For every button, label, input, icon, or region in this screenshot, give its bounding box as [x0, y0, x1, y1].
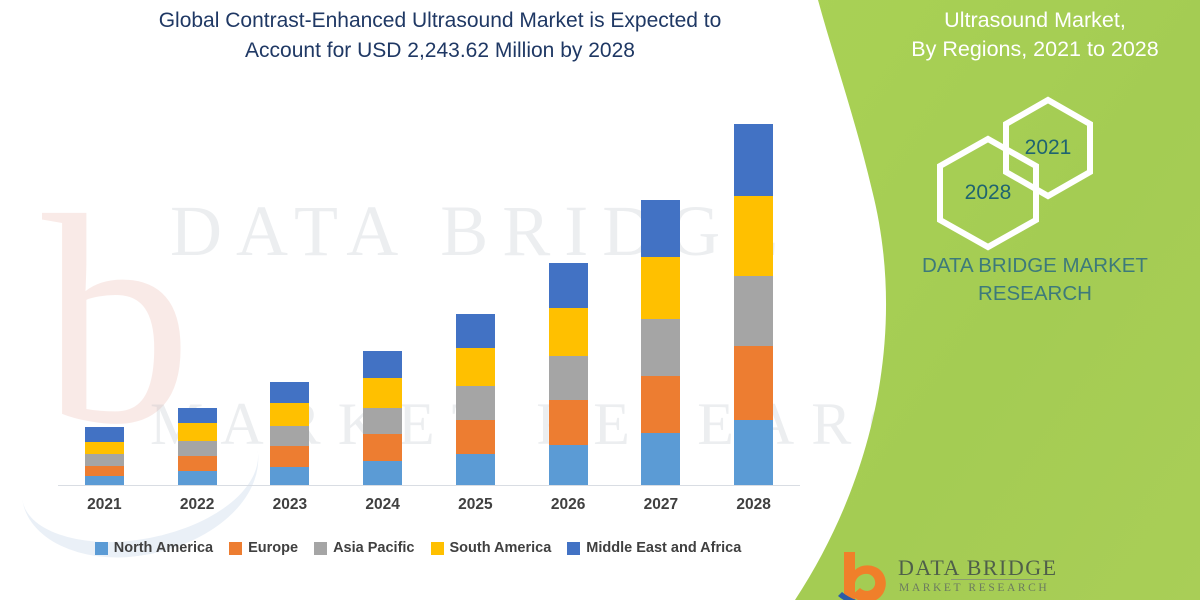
bar-segment[interactable] [363, 461, 402, 485]
bar-segment[interactable] [734, 276, 773, 347]
stacked-bar[interactable] [641, 200, 680, 485]
bar-segment[interactable] [178, 456, 217, 471]
bar-group-2025 [429, 100, 522, 485]
x-axis-label-2027: 2027 [615, 496, 708, 514]
bar-segment[interactable] [270, 382, 309, 403]
x-axis-label-2022: 2022 [151, 496, 244, 514]
bar-group-2024 [336, 100, 429, 485]
stacked-bar[interactable] [85, 427, 124, 485]
bar-segment[interactable] [641, 319, 680, 375]
bar-segment[interactable] [363, 351, 402, 378]
bar-segment[interactable] [363, 378, 402, 408]
hexagon-badge-2021: 2021 [1000, 96, 1096, 200]
bar-segment[interactable] [456, 348, 495, 386]
legend-swatch-icon [567, 542, 580, 555]
chart-legend: North AmericaEuropeAsia PacificSouth Ame… [48, 540, 788, 556]
bar-segment[interactable] [456, 314, 495, 348]
legend-swatch-icon [431, 542, 444, 555]
stacked-bar[interactable] [549, 263, 588, 485]
x-axis-label-2028: 2028 [707, 496, 800, 514]
logo-b-mark-icon [838, 550, 898, 600]
bar-segment[interactable] [456, 386, 495, 420]
bar-segment[interactable] [85, 442, 124, 454]
legend-label: Europe [248, 540, 298, 556]
infographic-canvas: b DATA BRIDGE MARKET RESEARCH Global Con… [0, 0, 1200, 600]
bar-segment[interactable] [178, 408, 217, 423]
logo-name: DATA BRIDGE [898, 555, 1058, 581]
chart-title: Global Contrast-Enhanced Ultrasound Mark… [60, 6, 820, 66]
stacked-bar[interactable] [270, 382, 309, 485]
legend-swatch-icon [229, 542, 242, 555]
bar-segment[interactable] [734, 124, 773, 196]
x-axis-label-2024: 2024 [336, 496, 429, 514]
stacked-bar[interactable] [734, 124, 773, 485]
bar-segment[interactable] [85, 427, 124, 442]
bar-segment[interactable] [734, 196, 773, 275]
bar-group-2022 [151, 100, 244, 485]
bar-segment[interactable] [270, 426, 309, 446]
x-axis-label-2025: 2025 [429, 496, 522, 514]
bar-segment[interactable] [549, 445, 588, 485]
bar-segment[interactable] [85, 454, 124, 466]
legend-item[interactable]: Europe [229, 540, 298, 556]
bar-segment[interactable] [549, 308, 588, 357]
bar-segment[interactable] [734, 346, 773, 419]
bar-segment[interactable] [363, 408, 402, 434]
x-axis-label-2026: 2026 [522, 496, 615, 514]
bar-segment[interactable] [456, 454, 495, 485]
bar-segment[interactable] [641, 200, 680, 257]
bar-segment[interactable] [549, 263, 588, 308]
bar-segment[interactable] [85, 466, 124, 476]
legend-label: South America [450, 540, 552, 556]
bar-segment[interactable] [641, 376, 680, 434]
legend-swatch-icon [314, 542, 327, 555]
stacked-bar[interactable] [456, 314, 495, 485]
panel-title: Ultrasound Market, By Regions, 2021 to 2… [880, 6, 1190, 64]
bar-group-2026 [522, 100, 615, 485]
bar-segment[interactable] [85, 476, 124, 485]
stacked-bar[interactable] [178, 408, 217, 485]
logo-divider [951, 579, 1043, 580]
bar-segment[interactable] [178, 423, 217, 441]
bar-group-2023 [244, 100, 337, 485]
x-axis-line [58, 485, 800, 486]
bar-segment[interactable] [270, 467, 309, 485]
bar-segment[interactable] [549, 400, 588, 445]
legend-item[interactable]: South America [431, 540, 552, 556]
bar-group-2028 [707, 100, 800, 485]
bar-segment[interactable] [734, 420, 773, 485]
legend-item[interactable]: North America [95, 540, 213, 556]
hexagon-badge-2021-label: 2021 [1025, 136, 1072, 160]
bar-segment[interactable] [270, 403, 309, 426]
x-axis-tick-labels: 20212022202320242025202620272028 [58, 496, 800, 514]
bar-segment[interactable] [270, 446, 309, 467]
stacked-bar[interactable] [363, 351, 402, 485]
legend-label: Middle East and Africa [586, 540, 741, 556]
bar-segment[interactable] [178, 441, 217, 456]
bar-group-2027 [615, 100, 708, 485]
bar-segment[interactable] [456, 420, 495, 455]
legend-item[interactable]: Middle East and Africa [567, 540, 741, 556]
x-axis-label-2021: 2021 [58, 496, 151, 514]
stacked-bar-series-group [58, 100, 800, 485]
legend-label: North America [114, 540, 213, 556]
legend-item[interactable]: Asia Pacific [314, 540, 414, 556]
panel-brand-text: DATA BRIDGE MARKET RESEARCH [885, 252, 1185, 308]
logo-tagline: MARKET RESEARCH [899, 582, 1049, 594]
data-bridge-logo: DATA BRIDGE MARKET RESEARCH [838, 550, 1168, 600]
x-axis-label-2023: 2023 [244, 496, 337, 514]
bar-segment[interactable] [641, 433, 680, 485]
bar-segment[interactable] [178, 471, 217, 485]
bar-segment[interactable] [363, 434, 402, 461]
legend-label: Asia Pacific [333, 540, 414, 556]
bar-segment[interactable] [641, 257, 680, 319]
bar-group-2021 [58, 100, 151, 485]
bar-segment[interactable] [549, 356, 588, 400]
legend-swatch-icon [95, 542, 108, 555]
